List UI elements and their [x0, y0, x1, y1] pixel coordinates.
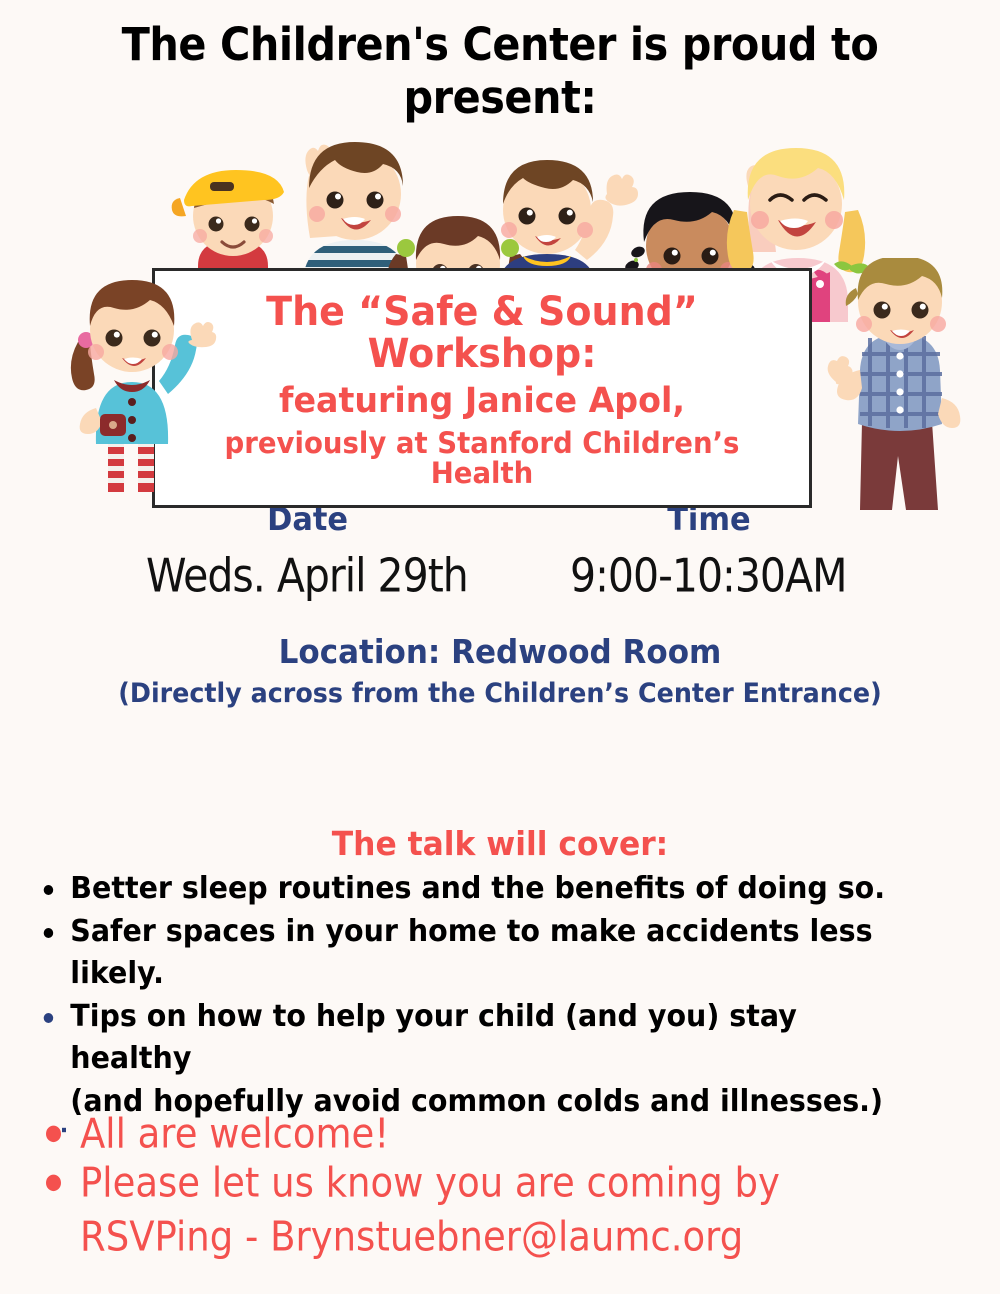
- talk-bullet-list: Better sleep routines and the benefits o…: [38, 868, 968, 1124]
- page-title: The Children's Center is proud to presen…: [40, 18, 960, 124]
- location-text: Location: Redwood Room: [30, 632, 970, 671]
- bullet-dot-icon: [44, 885, 54, 895]
- list-item: All are welcome!: [38, 1108, 968, 1162]
- list-item-text: Tips on how to help your child (and you)…: [70, 999, 797, 1077]
- whiteboard: The “Safe & Sound” Workshop: featuring J…: [152, 268, 812, 508]
- illustration-stage: The “Safe & Sound” Workshop: featuring J…: [0, 118, 1000, 518]
- bullet-dot-icon: [46, 1126, 61, 1143]
- bullet-dot-icon: [44, 928, 54, 938]
- child-girl-teal-coat: [42, 268, 232, 518]
- location-note: (Directly across from the Children’s Cen…: [30, 678, 970, 709]
- whiteboard-text: The “Safe & Sound” Workshop: featuring J…: [155, 271, 809, 489]
- list-item: Safer spaces in your home to make accide…: [38, 911, 922, 996]
- list-item: Better sleep routines and the benefits o…: [38, 868, 922, 911]
- list-item-text: Safer spaces in your home to make accide…: [70, 914, 872, 992]
- workshop-featuring: featuring Janice Apol,: [171, 383, 792, 420]
- bullet-dot-icon: [46, 1174, 61, 1191]
- rsvp-welcome-text: All are welcome!: [80, 1110, 389, 1157]
- list-item: Tips on how to help your child (and you)…: [38, 996, 922, 1124]
- workshop-credential: previously at Stanford Children’s Health: [171, 428, 792, 489]
- child-boy-plaid-shirt: [818, 258, 993, 518]
- bullet-dot-icon: [44, 1013, 54, 1023]
- time-value: 9:00-10:30AM: [570, 549, 846, 603]
- list-item-text: Better sleep routines and the benefits o…: [70, 871, 885, 906]
- talk-heading: The talk will cover:: [25, 824, 975, 863]
- stray-dot-artifact: [62, 1128, 66, 1132]
- list-item: Please let us know you are coming by RSV…: [38, 1157, 968, 1264]
- rsvp-email-text[interactable]: RSVPing - Brynstuebner@laumc.org: [80, 1211, 968, 1265]
- flyer-page: The Children's Center is proud to presen…: [0, 0, 1000, 1294]
- rsvp-list: All are welcome! Please let us know you …: [38, 1108, 968, 1254]
- workshop-title: The “Safe & Sound” Workshop:: [171, 291, 792, 375]
- date-value: Weds. April 29th: [146, 549, 468, 603]
- rsvp-instruction-text: Please let us know you are coming by: [80, 1159, 780, 1206]
